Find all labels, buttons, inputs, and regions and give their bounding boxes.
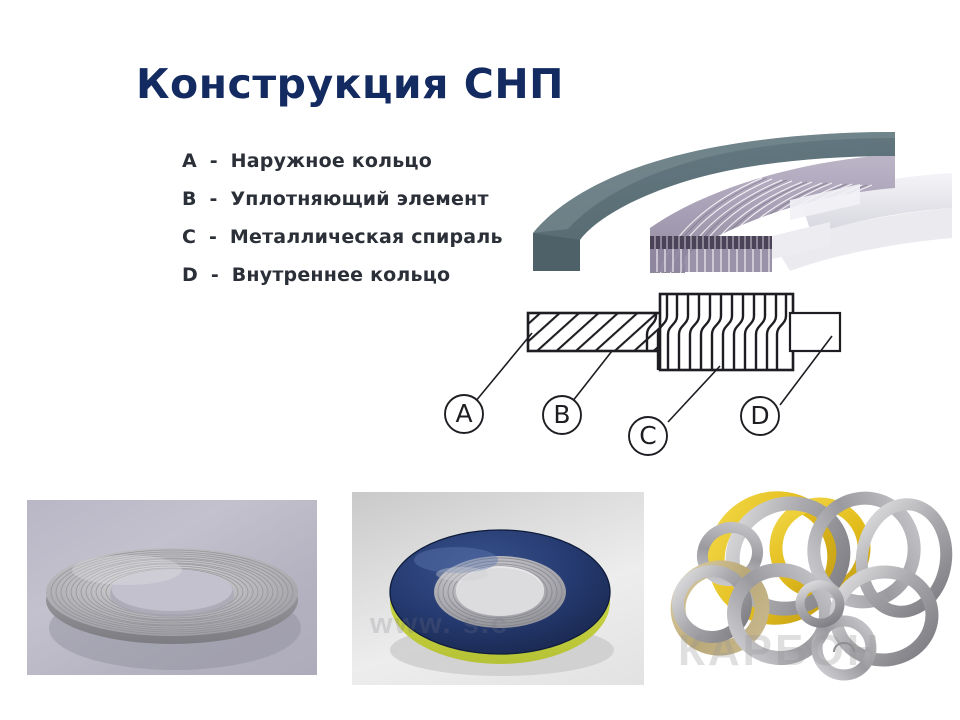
page-title: Конструкция СНП	[0, 60, 700, 108]
legend-separator: -	[204, 184, 224, 214]
legend-key-d: D	[182, 260, 198, 290]
gasket-cross-section-diagram: A B C D	[420, 280, 880, 480]
legend-separator: -	[203, 222, 223, 252]
legend-key-c: C	[182, 222, 196, 252]
legend: A - Наружное кольцо B - Уплотняющий элем…	[182, 146, 512, 298]
legend-item-b: B - Уплотняющий элемент	[182, 184, 512, 222]
cs-callout-C: C	[629, 417, 667, 455]
cutaway-spiral-edge	[650, 236, 772, 272]
legend-label-b: Уплотняющий элемент	[230, 184, 488, 214]
cs-callout-label-A: A	[455, 399, 472, 428]
slide-root: Конструкция СНП A - Наружное кольцо B - …	[0, 0, 960, 720]
cs-callout-B: B	[543, 396, 581, 434]
legend-label-a: Наружное кольцо	[231, 146, 432, 176]
gasket-3d-cutaway-image	[500, 128, 960, 293]
cs-callout-label-B: B	[553, 400, 570, 429]
cs-inner-ring-D	[790, 313, 840, 351]
legend-label-c: Металлическая спираль	[230, 222, 503, 252]
photo-blue-spiral-wound-gasket: www. s.c	[352, 492, 644, 685]
cs-spiral-band-BC	[647, 294, 793, 370]
legend-separator: -	[204, 146, 224, 176]
cs-callout-label-C: C	[639, 421, 656, 450]
legend-label-d: Внутреннее кольцо	[232, 260, 451, 290]
legend-item-c: C - Металлическая спираль	[182, 222, 512, 260]
photo-gasket-assortment: КАРБОН	[668, 486, 960, 691]
cs-callout-label-D: D	[750, 401, 769, 430]
legend-key-b: B	[182, 184, 197, 214]
legend-separator: -	[205, 260, 225, 290]
photo-metal-coil-gasket	[27, 500, 317, 675]
cs-callout-A: A	[445, 395, 483, 433]
legend-item-a: A - Наружное кольцо	[182, 146, 512, 184]
cs-callout-D: D	[741, 397, 779, 435]
legend-key-a: A	[182, 146, 197, 176]
